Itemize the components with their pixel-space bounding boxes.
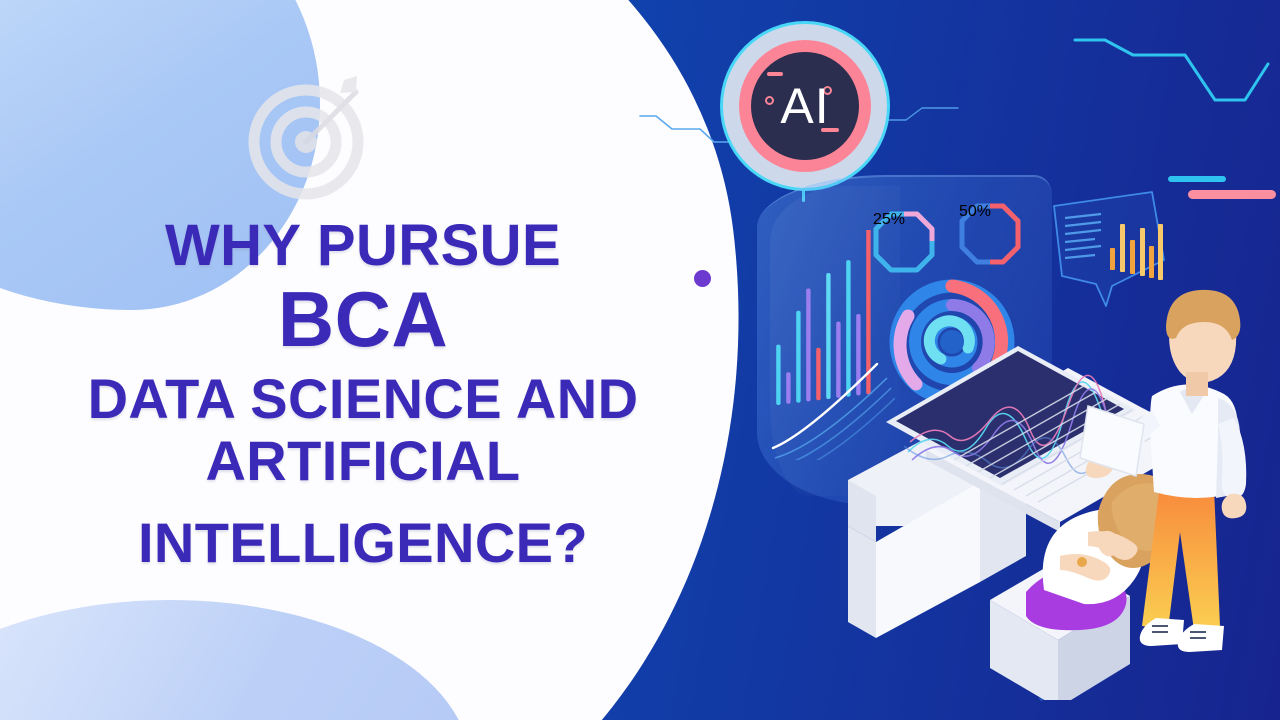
ai-badge-label: AI [751, 52, 859, 160]
dash-cyan-decor [1168, 176, 1226, 182]
headline-line-3: DATA SCIENCE AND [0, 368, 726, 430]
circuit-line-right-badge [880, 108, 958, 120]
headline-line-2: BCA [0, 276, 726, 362]
banner-canvas: WHY PURSUE BCA DATA SCIENCE AND ARTIFICI… [0, 0, 1280, 720]
headline-line-5: INTELLIGENCE? [0, 512, 726, 574]
ai-badge-icon: AI [723, 24, 887, 188]
headline-line-1: WHY PURSUE [0, 214, 726, 278]
headline-block: WHY PURSUE BCA DATA SCIENCE AND ARTIFICI… [0, 214, 726, 574]
gauge-50-label: 50% [959, 203, 1021, 265]
circuit-line-top-right [1075, 40, 1268, 100]
target-icon [248, 76, 374, 202]
gauge-25-label: 25% [873, 211, 935, 273]
gauge-50-value: 50% [959, 203, 991, 220]
dot-purple-decor [694, 270, 711, 287]
dash-pink-decor [1188, 190, 1276, 199]
headline-line-4: ARTIFICIAL [0, 430, 726, 492]
isometric-workspace-illustration [830, 270, 1280, 700]
gauge-25-value: 25% [873, 211, 905, 228]
